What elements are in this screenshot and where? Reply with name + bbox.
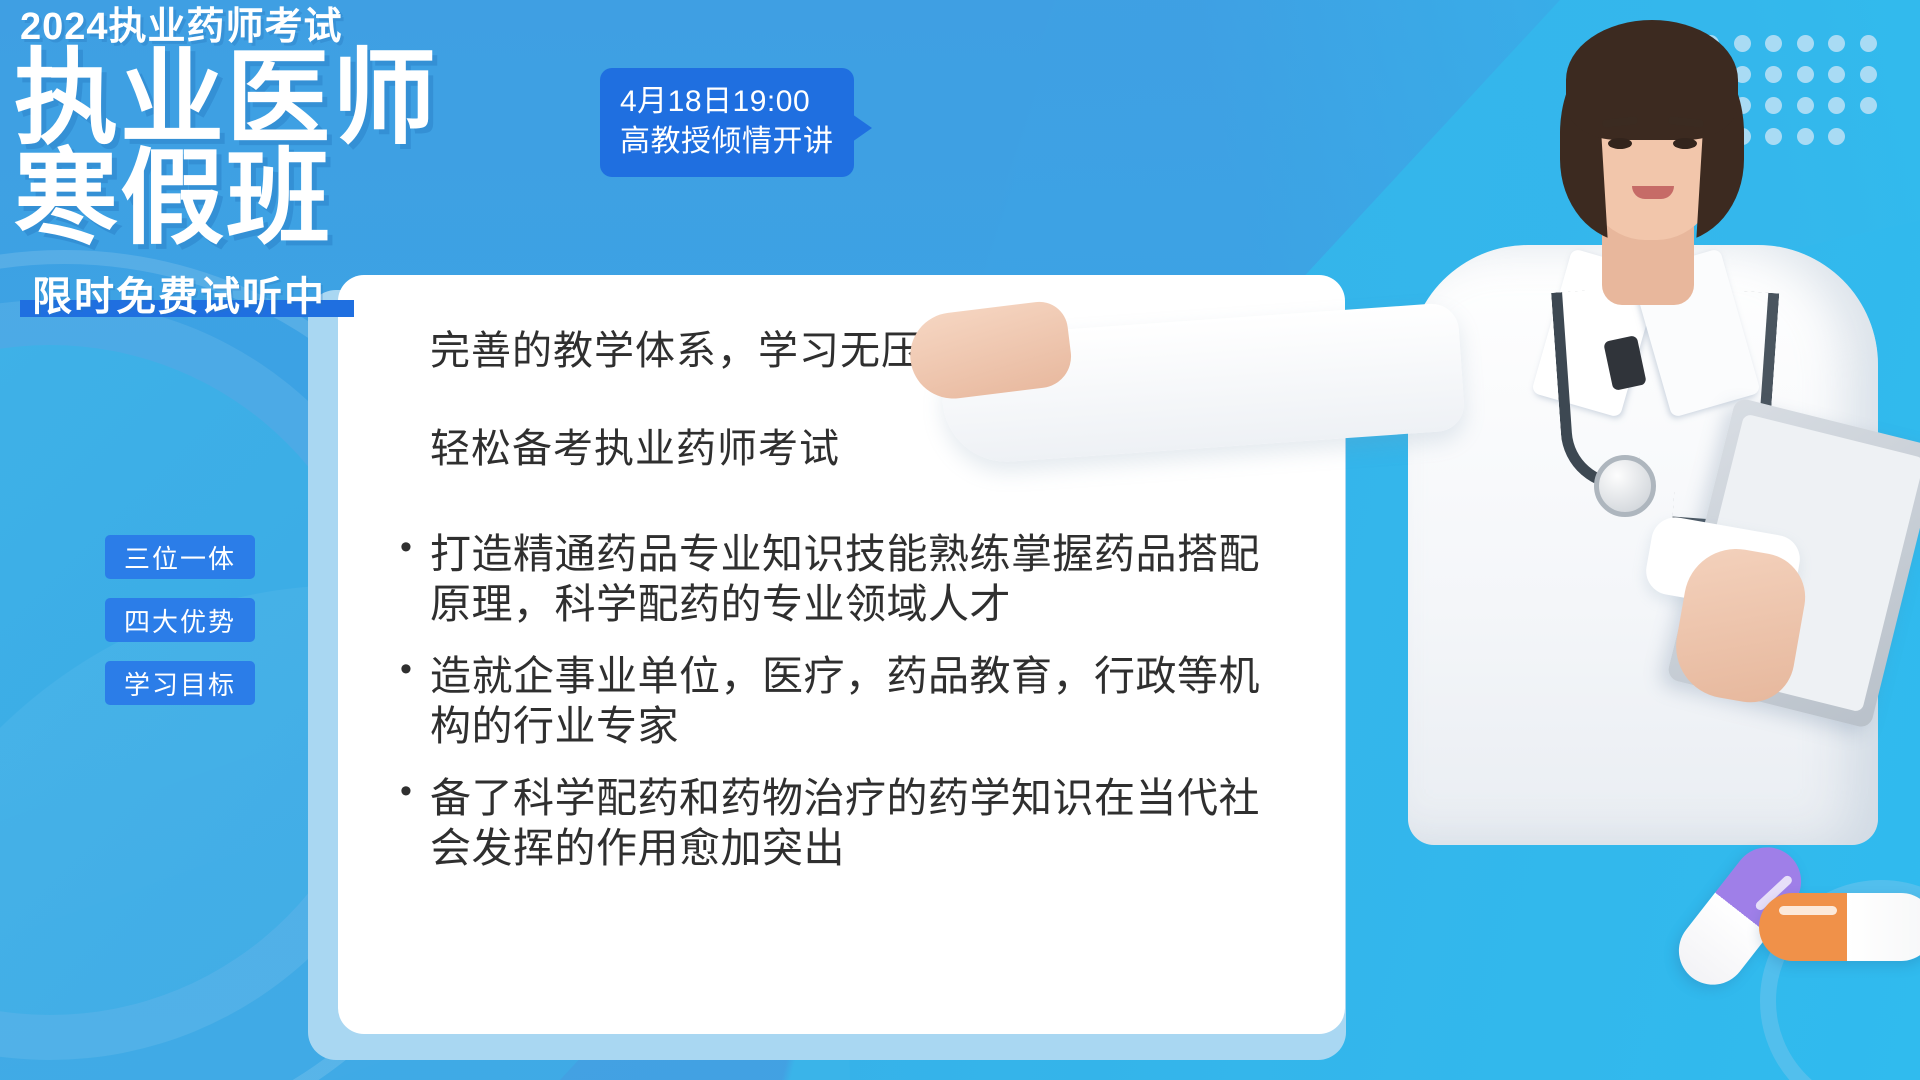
card-bullet-item: 造就企事业单位，医疗，药品教育，行政等机构的行业专家 (394, 651, 1289, 751)
doctor-eye-left (1608, 138, 1632, 149)
tag-sanweiyiti[interactable]: 三位一体 (105, 535, 255, 579)
headline-subtitle: 限时免费试听中 (32, 264, 326, 322)
date-bubble: 4月18日19:00 高教授倾情开讲 (600, 68, 854, 177)
tag-xuexizmubiao[interactable]: 学习目标 (105, 661, 255, 705)
card-bullet-list: 打造精通药品专业知识技能熟练掌握药品搭配原理，科学配药的专业领域人才 造就企事业… (394, 529, 1289, 873)
capsule-orange-icon (1759, 893, 1920, 961)
card-bullet-item: 备了科学配药和药物治疗的药学知识在当代社会发挥的作用愈加突出 (394, 773, 1289, 873)
stethoscope-bell (1594, 455, 1656, 517)
headline-title-line1: 执业医师 (14, 50, 574, 150)
card-bullet-item: 打造精通药品专业知识技能熟练掌握药品搭配原理，科学配药的专业领域人才 (394, 529, 1289, 629)
doctor-hair-top (1566, 20, 1738, 140)
headline-title-line2: 寒假班 (14, 150, 574, 250)
headline-subtitle-wrap: 限时免费试听中 (14, 264, 364, 320)
headline-title: 执业医师 寒假班 (14, 50, 574, 250)
date-bubble-line2: 高教授倾情开讲 (620, 122, 834, 162)
feature-tag-list: 三位一体 四大优势 学习目标 (105, 535, 255, 705)
doctor-eye-right (1673, 138, 1697, 149)
doctor-photo (1380, 0, 1920, 840)
promo-poster: 2024执业药师考试 执业医师 寒假班 限时免费试听中 4月18日19:00 高… (0, 0, 1920, 1080)
tag-sidayoushi[interactable]: 四大优势 (105, 598, 255, 642)
headline-block: 2024执业药师考试 执业医师 寒假班 限时免费试听中 (14, 8, 574, 320)
doctor-mouth (1632, 186, 1674, 199)
date-bubble-line1: 4月18日19:00 (620, 82, 834, 122)
